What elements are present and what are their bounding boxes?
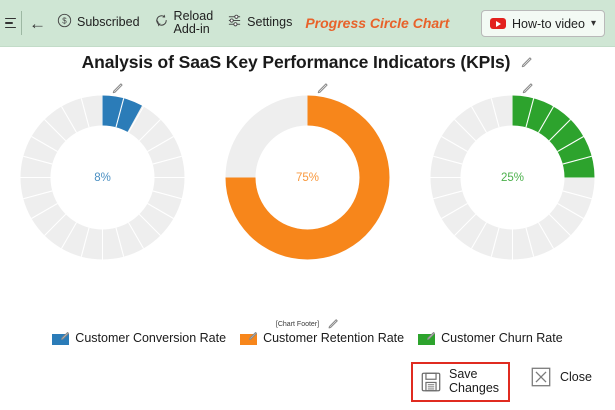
donut-2-value-label: 25% — [425, 172, 600, 184]
reload-label-line1: Reload — [174, 9, 214, 23]
donut-2[interactable]: 25% — [425, 90, 600, 265]
legend-label-0: Customer Conversion Rate — [75, 331, 226, 345]
donut-0[interactable]: 8% — [15, 90, 190, 265]
legend-swatch-2 — [418, 332, 435, 345]
back-button[interactable]: ← — [25, 3, 50, 43]
dollar-circle-icon: $ — [57, 13, 72, 33]
chart-footer-row: [Chart Footer] — [0, 318, 615, 331]
donut-0-value-label: 8% — [15, 172, 190, 184]
legend-pencil-edit-icon[interactable] — [59, 329, 70, 340]
settings-label: Settings — [247, 16, 292, 29]
donut-1-value-label: 75% — [220, 172, 395, 184]
legend-item-0[interactable]: Customer Conversion Rate — [52, 331, 226, 345]
settings-button[interactable]: Settings — [220, 3, 299, 43]
reload-addin-button[interactable]: Reload Add-in — [147, 3, 221, 43]
addin-name-label: Progress Circle Chart — [305, 15, 449, 31]
save-changes-label: Save Changes — [449, 368, 499, 396]
progress-chart-1: 75% — [213, 82, 403, 265]
legend-label-1: Customer Retention Rate — [263, 331, 404, 345]
close-label: Close — [560, 370, 592, 384]
menu-button[interactable] — [2, 3, 18, 43]
chart-footer-label: [Chart Footer] — [276, 321, 319, 328]
save-label-line2: Changes — [449, 381, 499, 395]
subscribed-button[interactable]: $ Subscribed — [50, 3, 147, 43]
progress-chart-0: 8% — [8, 82, 198, 265]
donut-1[interactable]: 75% — [220, 90, 395, 265]
chart-legend: Customer Conversion RateCustomer Retenti… — [0, 331, 615, 345]
sliders-icon — [227, 13, 242, 33]
footer-pencil-edit-icon[interactable] — [326, 318, 339, 331]
close-button[interactable]: Close — [530, 366, 592, 388]
how-to-video-label: How-to video — [512, 17, 585, 31]
progress-chart-2: 25% — [418, 82, 608, 265]
legend-swatch-1 — [240, 332, 257, 345]
back-arrow-icon: ← — [29, 15, 46, 32]
hamburger-menu-icon — [5, 18, 16, 29]
legend-pencil-edit-icon[interactable] — [425, 329, 436, 340]
save-label-line1: Save — [449, 367, 478, 381]
refresh-icon — [154, 13, 169, 33]
progress-circle-charts: 8% 75% 25% — [0, 82, 615, 312]
svg-text:$: $ — [62, 17, 67, 26]
legend-label-2: Customer Churn Rate — [441, 331, 563, 345]
chevron-down-icon: ▾ — [591, 18, 596, 29]
legend-swatch-0 — [52, 332, 69, 345]
page-title: Analysis of SaaS Key Performance Indicat… — [82, 52, 511, 73]
legend-item-2[interactable]: Customer Churn Rate — [418, 331, 563, 345]
floppy-disk-save-icon — [420, 371, 442, 393]
chart-title-row: Analysis of SaaS Key Performance Indicat… — [0, 52, 615, 73]
save-changes-button[interactable]: Save Changes — [411, 362, 510, 402]
dialog-button-row: Save Changes Close — [0, 358, 615, 406]
addin-toolbar: ← $ Subscribed Reload — [0, 0, 615, 47]
addin-task-pane: ← $ Subscribed Reload — [0, 0, 615, 410]
youtube-play-icon — [490, 18, 506, 29]
legend-item-1[interactable]: Customer Retention Rate — [240, 331, 404, 345]
reload-addin-label: Reload Add-in — [174, 10, 214, 36]
close-x-icon — [530, 366, 552, 388]
legend-pencil-edit-icon[interactable] — [247, 329, 258, 340]
subscribed-label: Subscribed — [77, 16, 140, 29]
how-to-video-button[interactable]: How-to video ▾ — [481, 10, 605, 37]
title-pencil-edit-icon[interactable] — [519, 56, 533, 70]
reload-label-line2: Add-in — [174, 22, 210, 36]
toolbar-divider — [21, 11, 22, 35]
